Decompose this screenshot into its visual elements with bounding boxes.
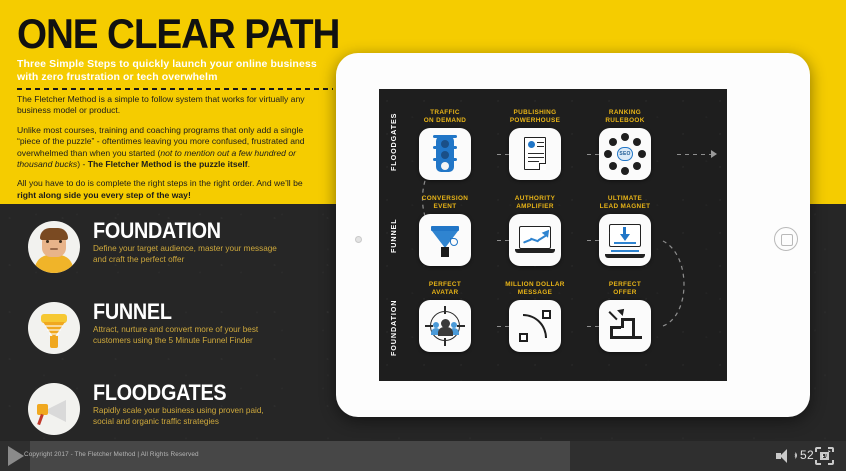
card-label-publishing-powerhouse: PUBLISHING POWERHOUSE xyxy=(489,109,581,124)
document-icon xyxy=(509,128,561,180)
card-perfect-avatar[interactable] xyxy=(419,300,471,352)
person-avatar-icon xyxy=(28,221,80,273)
card-conversion-event[interactable] xyxy=(419,214,471,266)
funnel-icon xyxy=(419,214,471,266)
stairs-arrow-icon xyxy=(599,300,651,352)
camera-icon xyxy=(355,236,362,243)
dashed-divider xyxy=(17,88,333,90)
card-million-dollar-message[interactable] xyxy=(509,300,561,352)
connector-r1-out xyxy=(677,154,711,155)
step-title-floodgates: FLOODGATES xyxy=(93,380,226,406)
diagram-screen: FLOODGATES FUNNEL FOUNDATION TRAFFIC ON xyxy=(379,89,727,381)
laptop-chart-icon xyxy=(509,214,561,266)
flow-arrow-icon xyxy=(711,150,717,158)
body-p2-part-b2: ) - xyxy=(77,159,88,169)
volume-icon[interactable] xyxy=(776,449,798,463)
fullscreen-icon[interactable] xyxy=(815,447,834,465)
card-label-perfect-offer: PERFECT OFFER xyxy=(579,281,671,296)
page-title: ONE CLEAR PATH xyxy=(17,12,302,56)
card-label-perfect-avatar: PERFECT AVATAR xyxy=(399,281,491,296)
card-label-ranking-rulebook: RANKING RULEBOOK xyxy=(579,109,671,124)
megaphone-icon xyxy=(28,383,80,435)
traffic-light-icon xyxy=(419,128,471,180)
body-p3-part-a: All you have to do is complete the right… xyxy=(17,178,303,188)
card-authority-amplifier[interactable] xyxy=(509,214,561,266)
step-item-funnel: FUNNEL Attract, nurture and convert more… xyxy=(0,296,340,376)
card-traffic-on-demand[interactable] xyxy=(419,128,471,180)
card-ranking-rulebook[interactable]: SEO xyxy=(599,128,651,180)
subtitle: Three Simple Steps to quickly launch you… xyxy=(17,58,317,84)
left-content-column: ONE CLEAR PATH Three Simple Steps to qui… xyxy=(0,0,340,471)
target-avatar-icon xyxy=(419,300,471,352)
step-title-funnel: FUNNEL xyxy=(93,299,172,325)
step-desc-floodgates: Rapidly scale your business using proven… xyxy=(93,405,278,427)
card-ultimate-lead-magnet[interactable] xyxy=(599,214,651,266)
copyright-text: Copyright 2017 - The Fletcher Method | A… xyxy=(24,451,199,458)
body-p2-bold: The Fletcher Method is the puzzle itself xyxy=(88,159,248,169)
body-copy: The Fletcher Method is a simple to follo… xyxy=(17,94,322,209)
card-label-conversion-event: CONVERSION EVENT xyxy=(399,195,491,210)
step-desc-funnel: Attract, nurture and convert more of you… xyxy=(93,324,278,346)
row-label-foundation: FOUNDATION xyxy=(389,287,403,369)
play-icon[interactable] xyxy=(8,446,24,466)
body-paragraph-3: All you have to do is complete the right… xyxy=(17,178,322,201)
seo-badge: SEO xyxy=(617,147,633,161)
card-perfect-offer[interactable] xyxy=(599,300,651,352)
step-item-foundation: FOUNDATION Define your target audience, … xyxy=(0,215,340,295)
bezier-curve-icon xyxy=(509,300,561,352)
body-paragraph-1: The Fletcher Method is a simple to follo… xyxy=(17,94,322,117)
body-p2-end: . xyxy=(248,159,250,169)
video-player-controls: Copyright 2017 - The Fletcher Method | A… xyxy=(0,441,846,471)
row-label-funnel: FUNNEL xyxy=(389,201,403,271)
step-desc-foundation: Define your target audience, master your… xyxy=(93,243,278,265)
card-label-authority-amplifier: AUTHORITY AMPLIFIER xyxy=(489,195,581,210)
slide-stage: ONE CLEAR PATH Three Simple Steps to qui… xyxy=(0,0,846,471)
card-label-traffic-on-demand: TRAFFIC ON DEMAND xyxy=(399,109,491,124)
funnel-icon xyxy=(28,302,80,354)
lead-magnet-icon xyxy=(599,214,651,266)
step-title-foundation: FOUNDATION xyxy=(93,218,221,244)
tablet-device: FLOODGATES FUNNEL FOUNDATION TRAFFIC ON xyxy=(336,53,810,417)
home-button-icon[interactable] xyxy=(774,227,798,251)
seo-network-icon: SEO xyxy=(599,128,651,180)
body-p3-bold: right along side you every step of the w… xyxy=(17,190,191,200)
body-paragraph-2: Unlike most courses, training and coachi… xyxy=(17,125,322,171)
card-label-ultimate-lead-magnet: ULTIMATE LEAD MAGNET xyxy=(579,195,671,210)
card-publishing-powerhouse[interactable] xyxy=(509,128,561,180)
steps-list: FOUNDATION Define your target audience, … xyxy=(0,215,340,458)
card-label-million-dollar-message: MILLION DOLLAR MESSAGE xyxy=(489,281,581,296)
